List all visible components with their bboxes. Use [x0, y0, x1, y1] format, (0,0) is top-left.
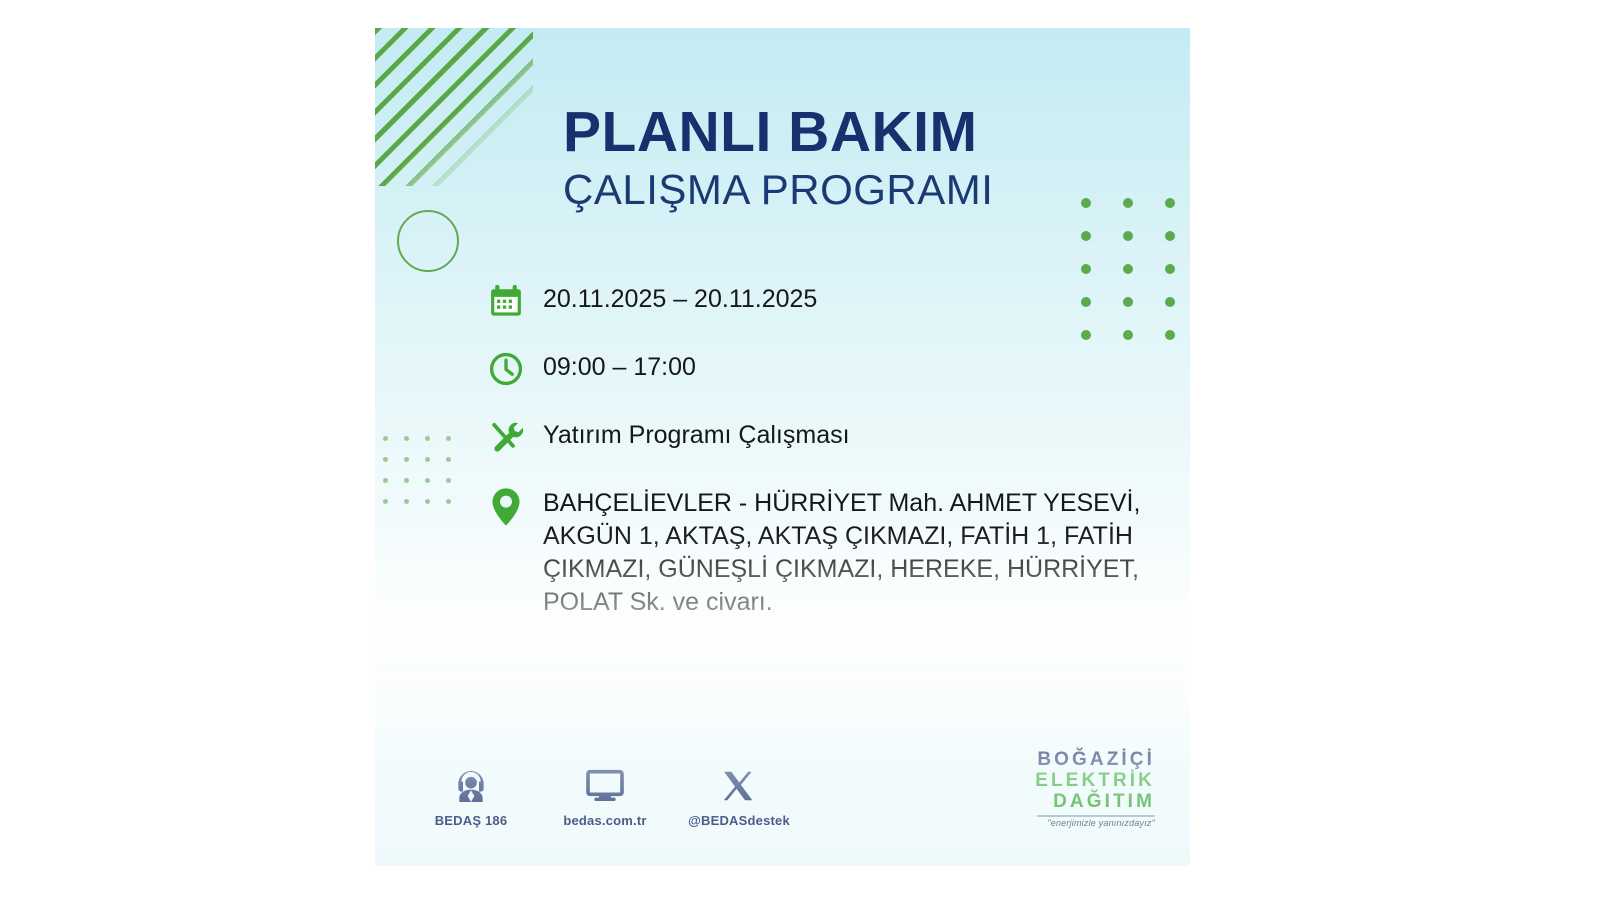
contact-website[interactable]: bedas.com.tr — [559, 764, 651, 828]
monitor-icon — [585, 764, 625, 806]
dot-grid-left-decoration — [383, 436, 467, 520]
detail-row-date: 20.11.2025 – 20.11.2025 — [487, 280, 1147, 322]
x-twitter-icon — [720, 764, 758, 806]
date-range-text: 20.11.2025 – 20.11.2025 — [543, 280, 817, 316]
diagonal-stripes-decoration — [375, 28, 533, 186]
time-range-text: 09:00 – 17:00 — [543, 348, 696, 384]
work-type-text: Yatırım Programı Çalışması — [543, 416, 850, 452]
brand-tagline: "enerjimizle yanınızdayız" — [1035, 819, 1155, 828]
page-title: PLANLI BAKIM — [563, 103, 1163, 162]
contact-group: BEDAŞ 186 bedas.com.tr — [403, 764, 785, 828]
contact-social-label: @BEDASdestek — [688, 813, 790, 828]
contact-phone-label: BEDAŞ 186 — [435, 813, 508, 828]
calendar-icon — [487, 280, 543, 322]
detail-row-work-type: Yatırım Programı Çalışması — [487, 416, 1147, 458]
poster-canvas: PLANLI BAKIM ÇALIŞMA PROGRAMI — [0, 0, 1600, 900]
detail-row-address: BAHÇELİEVLER - HÜRRİYET Mah. AHMET YESEV… — [487, 484, 1147, 619]
location-pin-icon — [487, 484, 543, 526]
address-text: BAHÇELİEVLER - HÜRRİYET Mah. AHMET YESEV… — [543, 484, 1143, 619]
footer: BEDAŞ 186 bedas.com.tr — [403, 750, 1163, 828]
brand-line-bogazici: BOĞAZİÇİ — [1035, 750, 1155, 769]
details-list: 20.11.2025 – 20.11.2025 09:00 – 17:00 — [487, 280, 1147, 619]
clock-icon — [487, 348, 543, 390]
detail-row-time: 09:00 – 17:00 — [487, 348, 1147, 390]
brand-divider — [1037, 815, 1155, 817]
tools-icon — [487, 416, 543, 458]
page-subtitle: ÇALIŞMA PROGRAMI — [563, 166, 1163, 213]
contact-phone[interactable]: BEDAŞ 186 — [425, 764, 517, 828]
brand-line-dagitim: DAĞITIM — [1035, 792, 1155, 811]
contact-website-label: bedas.com.tr — [563, 813, 646, 828]
support-agent-icon — [451, 764, 491, 806]
announcement-card: PLANLI BAKIM ÇALIŞMA PROGRAMI — [375, 28, 1190, 866]
brand-logo: BOĞAZİÇİ ELEKTRİK DAĞITIM "enerjimizle y… — [1035, 750, 1163, 828]
brand-line-elektrik: ELEKTRİK — [1035, 771, 1155, 790]
title-block: PLANLI BAKIM ÇALIŞMA PROGRAMI — [563, 103, 1163, 213]
contact-social[interactable]: @BEDASdestek — [693, 764, 785, 828]
circle-outline-decoration — [397, 210, 459, 272]
